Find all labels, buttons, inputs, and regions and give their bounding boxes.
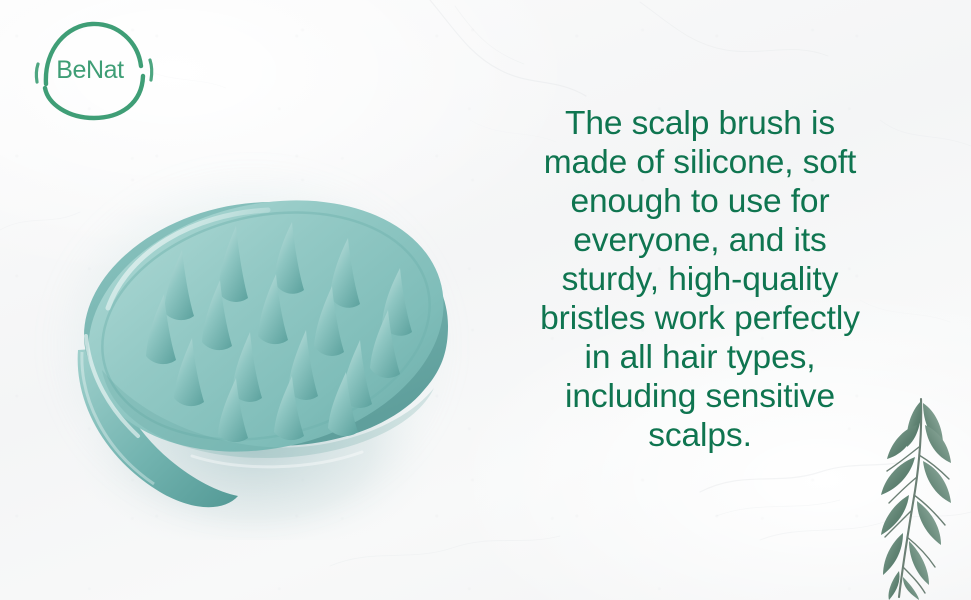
scalp-brush-illustration: [42, 140, 462, 540]
copy-line: enough to use for: [500, 182, 900, 221]
copy-line: scalps.: [500, 416, 900, 455]
copy-line: everyone, and its: [500, 221, 900, 260]
logo-wordmark: BeNat: [56, 56, 124, 84]
logo-artwork: BeNat: [24, 14, 156, 126]
copy-line: in all hair types,: [500, 338, 900, 377]
copy-line: sturdy, high-quality: [500, 260, 900, 299]
product-description-text: The scalp brush is made of silicone, sof…: [500, 104, 900, 455]
product-image: [42, 140, 462, 540]
olive-branch-decoration: [859, 385, 971, 600]
copy-line: The scalp brush is: [500, 104, 900, 143]
olive-branch-icon: [859, 385, 971, 600]
brand-logo[interactable]: BeNat: [24, 14, 156, 126]
copy-line: bristles work perfectly: [500, 299, 900, 338]
promo-banner: BeNat: [0, 0, 971, 600]
copy-line: including sensitive: [500, 377, 900, 416]
copy-line: made of silicone, soft: [500, 143, 900, 182]
